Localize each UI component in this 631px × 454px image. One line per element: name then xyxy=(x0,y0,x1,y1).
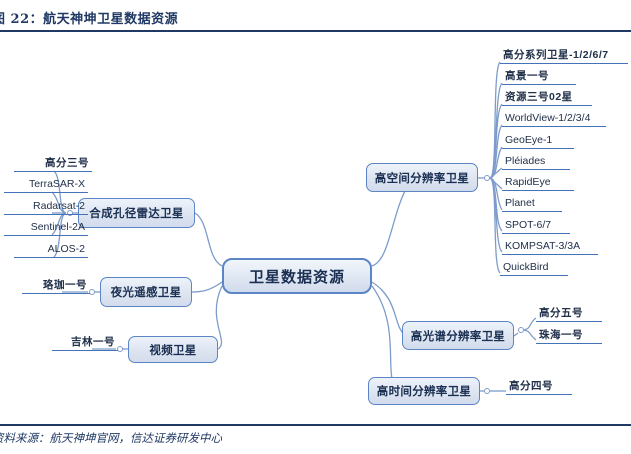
branch-label-nightlight: 夜光遥感卫星 xyxy=(111,284,182,300)
leaf-video-0[interactable]: 吉林一号 xyxy=(52,336,118,351)
branch-node-spectral[interactable]: 高光谱分辨率卫星 xyxy=(402,321,514,350)
leaf-spatial-7[interactable]: Planet xyxy=(502,197,562,212)
leaf-spatial-3[interactable]: WorldView-1/2/3/4 xyxy=(502,112,606,127)
branch-node-video[interactable]: 视频卫星 xyxy=(128,336,218,363)
figure-canvas: 图 22：航天神坤卫星数据资源 xyxy=(0,0,631,454)
leaf-spatial-5[interactable]: Pléiades xyxy=(502,155,570,170)
figure-title: 图 22：航天神坤卫星数据资源 xyxy=(0,8,178,27)
branch-label-spectral: 高光谱分辨率卫星 xyxy=(411,328,505,344)
leaf-spatial-8[interactable]: SPOT-6/7 xyxy=(502,219,570,234)
leaf-spatial-6[interactable]: RapidEye xyxy=(502,176,574,191)
leaf-sar-1[interactable]: TerraSAR-X xyxy=(4,178,88,193)
leaf-sar-0[interactable]: 高分三号 xyxy=(14,157,92,172)
leaf-nightlight-0[interactable]: 珞珈一号 xyxy=(22,279,90,294)
leaf-spatial-1[interactable]: 高景一号 xyxy=(502,70,576,85)
branch-label-video: 视频卫星 xyxy=(149,342,196,358)
leaf-spatial-4[interactable]: GeoEye-1 xyxy=(502,134,574,149)
leaf-sar-2[interactable]: Radarsat-2 xyxy=(4,200,88,215)
leaf-spatial-2[interactable]: 资源三号02星 xyxy=(502,91,592,106)
hub-dot-spatial[interactable] xyxy=(484,175,490,181)
leaf-sar-4[interactable]: ALOS-2 xyxy=(14,243,88,258)
branch-node-nightlight[interactable]: 夜光遥感卫星 xyxy=(100,277,192,307)
leaf-sar-3[interactable]: Sentinel-2A xyxy=(4,221,88,236)
branch-node-temporal[interactable]: 高时间分辨率卫星 xyxy=(368,377,480,405)
leaf-spatial-0[interactable]: 高分系列卫星-1/2/6/7 xyxy=(500,49,628,64)
figure-source: 资料来源：航天神坤官网，信达证券研发中心 xyxy=(0,430,222,446)
branch-node-spatial[interactable]: 高空间分辨率卫星 xyxy=(366,163,478,192)
leaf-spatial-9[interactable]: KOMPSAT-3/3A xyxy=(502,240,598,255)
branch-node-sar[interactable]: 合成孔径雷达卫星 xyxy=(78,198,195,228)
source-divider xyxy=(0,424,631,426)
hub-dot-spectral[interactable] xyxy=(518,327,524,333)
hub-dot-temporal[interactable] xyxy=(484,388,490,394)
mindmap-center-node[interactable]: 卫星数据资源 xyxy=(222,258,372,294)
center-node-label: 卫星数据资源 xyxy=(249,266,345,287)
leaf-spectral-0[interactable]: 高分五号 xyxy=(536,307,602,322)
branch-label-sar: 合成孔径雷达卫星 xyxy=(89,205,183,221)
leaf-spectral-1[interactable]: 珠海一号 xyxy=(536,329,602,344)
title-divider xyxy=(0,30,631,32)
leaf-spatial-10[interactable]: QuickBird xyxy=(500,261,568,276)
leaf-temporal-0[interactable]: 高分四号 xyxy=(506,380,572,395)
branch-label-spatial: 高空间分辨率卫星 xyxy=(375,170,469,186)
branch-label-temporal: 高时间分辨率卫星 xyxy=(377,383,471,399)
